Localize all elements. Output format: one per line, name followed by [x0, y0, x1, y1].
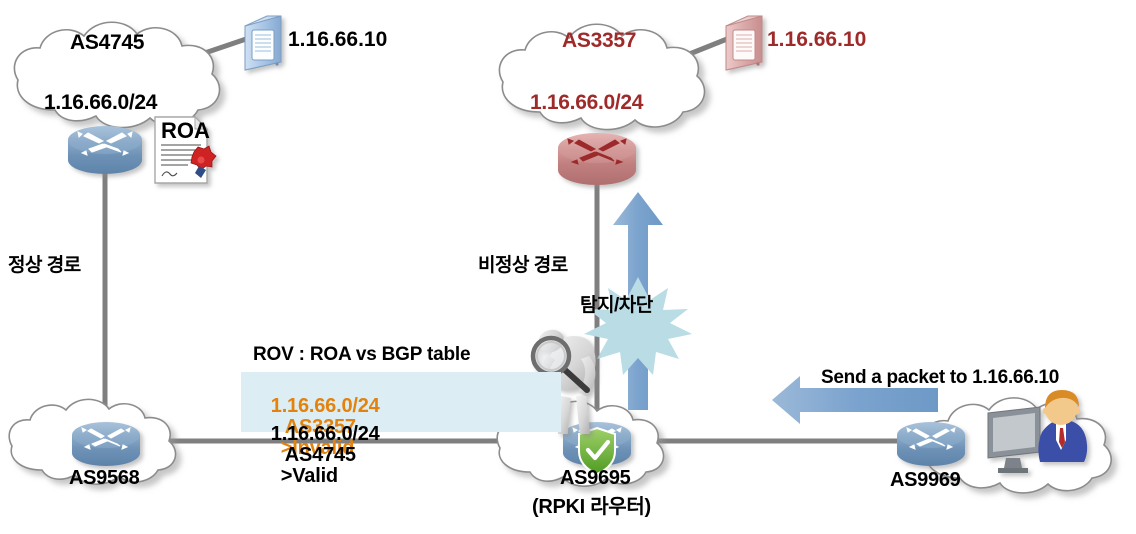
diagram-graphics — [0, 0, 1136, 534]
server-hijack-icon — [726, 16, 762, 70]
cloud-sublabel-as9695: (RPKI 라우터) — [532, 497, 651, 517]
rov-table-row: 1.16.66.0/24 AS4745 >Valid — [253, 406, 380, 505]
rov-row-origin-as: AS4745 — [285, 444, 356, 466]
cloud-prefix-as3357: 1.16.66.0/24 — [530, 92, 643, 113]
cloud-label-as9568: AS9568 — [69, 468, 139, 488]
router-as3357 — [558, 133, 636, 185]
diagram-canvas: AS4745 1.16.66.0/24 1.16.66.10 AS3357 1.… — [0, 0, 1136, 534]
rov-table-title: ROV : ROA vs BGP table — [253, 345, 470, 364]
cloud-label-as9695: AS9695 — [560, 468, 630, 488]
path-label-abnormal: 비정상 경로 — [478, 256, 568, 275]
roa-doc-label: ROA — [161, 120, 210, 142]
cloud-label-as3357: AS3357 — [562, 30, 636, 51]
cloud-label-as9969: AS9969 — [890, 470, 960, 490]
send-packet-label: Send a packet to 1.16.66.10 — [821, 368, 1059, 387]
server-ip-hijack: 1.16.66.10 — [767, 29, 866, 50]
rov-row-result: >Valid — [281, 465, 338, 487]
router-as9568 — [72, 422, 140, 466]
rov-row-prefix: 1.16.66.0/24 — [271, 423, 380, 445]
path-label-block: 탐지/차단 — [580, 296, 653, 315]
cloud-label-as4745: AS4745 — [70, 32, 144, 53]
router-as9969 — [897, 422, 965, 466]
path-label-normal: 정상 경로 — [8, 256, 81, 275]
cloud-prefix-as4745: 1.16.66.0/24 — [44, 92, 157, 113]
router-as4745 — [68, 126, 142, 174]
server-legit-icon — [245, 16, 281, 70]
server-ip-legit: 1.16.66.10 — [288, 29, 387, 50]
